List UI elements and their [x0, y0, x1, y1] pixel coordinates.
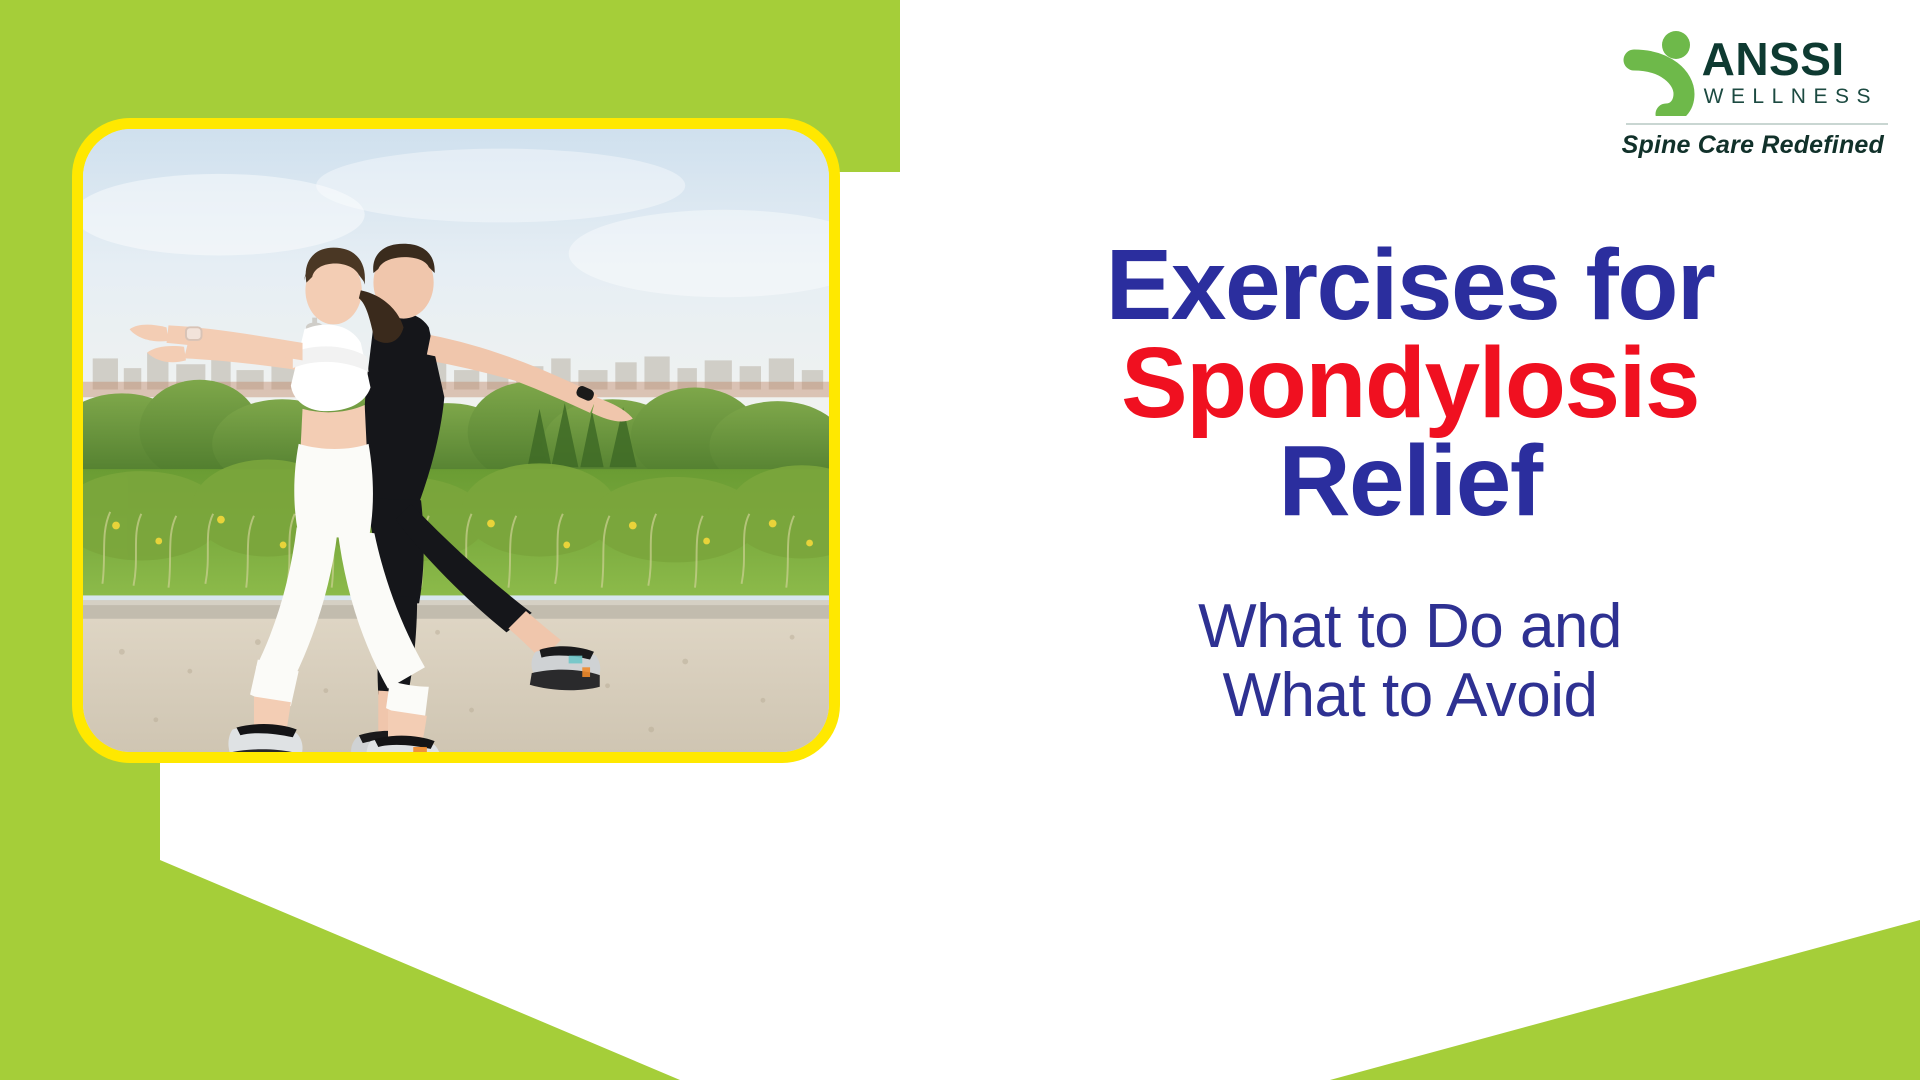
sneaker: [530, 646, 600, 690]
title-line-1: Exercises for: [950, 236, 1870, 334]
logo-divider: [1626, 123, 1888, 125]
logo-wordmark: ANSSI WELLNESS: [1702, 32, 1878, 111]
logo-subname: WELLNESS: [1702, 82, 1878, 111]
person-arc-icon: [1622, 28, 1696, 116]
subtitle-line-2: What to Avoid: [950, 661, 1870, 730]
green-shape-bottom-right: [1330, 920, 1920, 1080]
logo-tagline: Spine Care Redefined: [1622, 131, 1884, 160]
title-block: Exercises for Spondylosis Relief What to…: [950, 236, 1870, 731]
title-line-3: Relief: [950, 432, 1870, 530]
logo-name: ANSSI: [1702, 36, 1878, 82]
subtitle-line-1: What to Do and: [950, 592, 1870, 661]
hero-photo: [83, 129, 829, 752]
hero-photo-illustration: [83, 129, 829, 752]
brand-logo: ANSSI WELLNESS Spine Care Redefined: [1622, 28, 1884, 160]
logo-row: ANSSI WELLNESS: [1622, 28, 1884, 116]
title-line-2: Spondylosis: [950, 334, 1870, 432]
page-title: Exercises for Spondylosis Relief: [950, 236, 1870, 530]
sneaker: [227, 724, 303, 752]
page-subtitle: What to Do and What to Avoid: [950, 592, 1870, 731]
hero-photo-frame: [72, 118, 840, 763]
